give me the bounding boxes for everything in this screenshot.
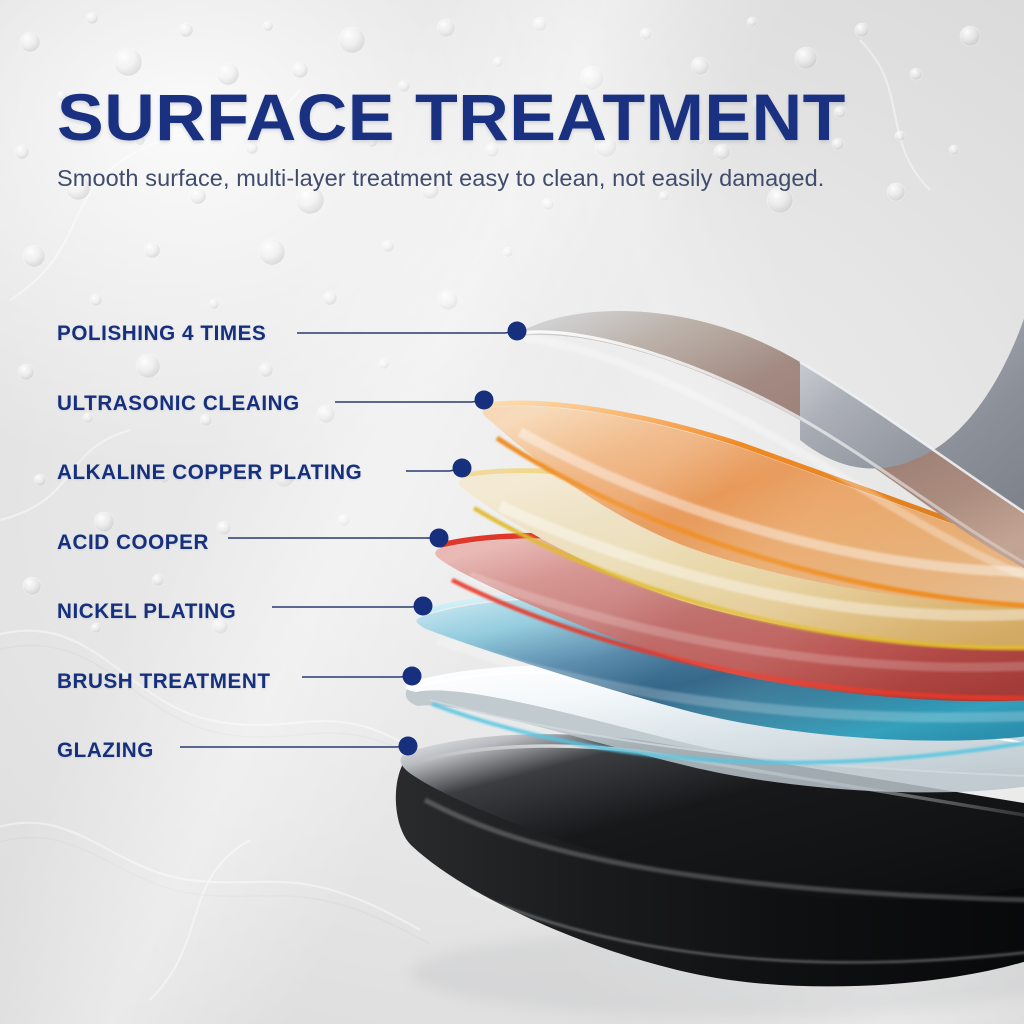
- poster-canvas: SURFACE TREATMENT Smooth surface, multi-…: [0, 0, 1024, 1024]
- callout-label: NICKEL PLATING: [57, 599, 236, 624]
- callout-glazing[interactable]: GLAZING: [57, 736, 158, 764]
- callout-label: ALKALINE COPPER PLATING: [57, 460, 362, 485]
- callout-ultrasonic-cleaing[interactable]: ULTRASONIC CLEAING: [57, 389, 310, 417]
- callout-brush-treatment[interactable]: BRUSH TREATMENT: [57, 667, 279, 695]
- callout-label-list: POLISHING 4 TIMESULTRASONIC CLEAINGALKAL…: [0, 0, 1024, 1024]
- callout-label: GLAZING: [57, 738, 154, 763]
- callout-label: POLISHING 4 TIMES: [57, 321, 266, 346]
- callout-label: BRUSH TREATMENT: [57, 669, 271, 694]
- callout-label: ACID COOPER: [57, 530, 209, 555]
- callout-nickel-plating[interactable]: NICKEL PLATING: [57, 597, 244, 625]
- callout-acid-cooper[interactable]: ACID COOPER: [57, 528, 215, 556]
- callout-alkaline-copper-plating[interactable]: ALKALINE COPPER PLATING: [57, 458, 375, 486]
- callout-label: ULTRASONIC CLEAING: [57, 391, 300, 416]
- callout-polishing-4-times[interactable]: POLISHING 4 TIMES: [57, 319, 275, 347]
